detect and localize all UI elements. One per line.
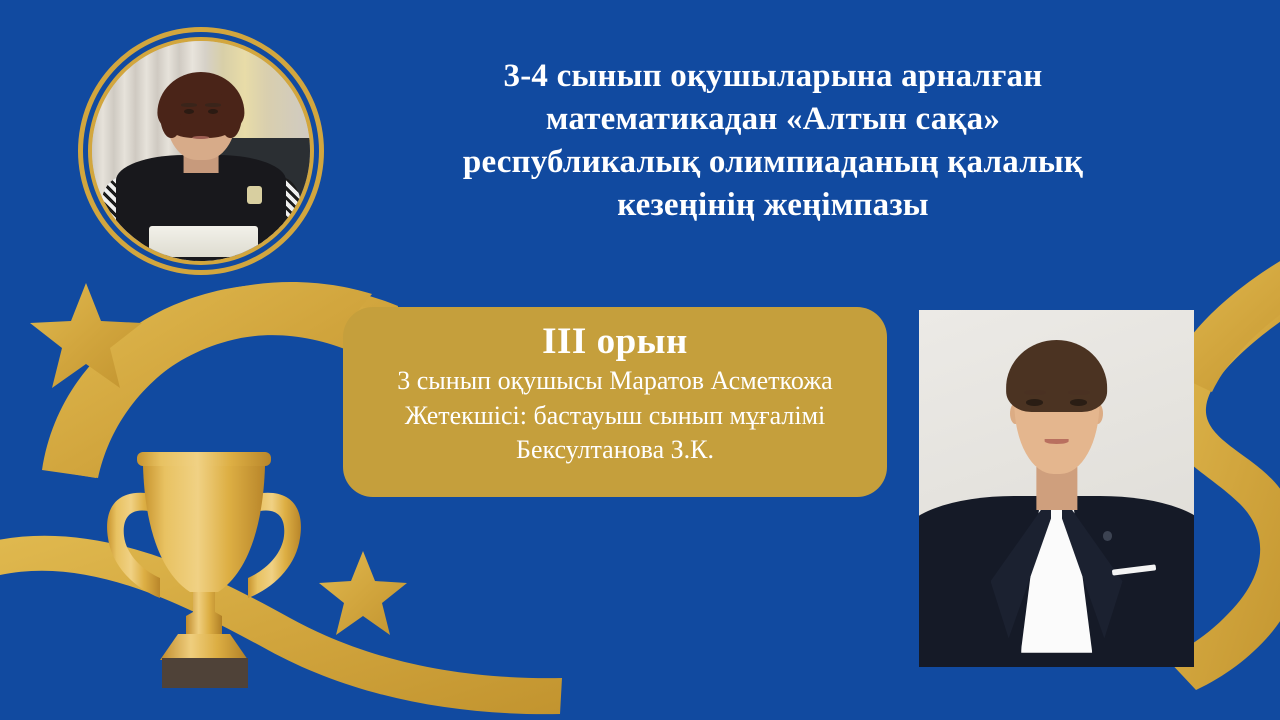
award-details: 3 сынып оқушысы Маратов Асметкожа Жетекш… [343, 364, 887, 467]
trophy-handle-right [248, 493, 301, 598]
award-place-label: III орын [343, 321, 887, 362]
trophy-foot [160, 634, 248, 660]
student-mouth [1044, 439, 1069, 445]
gold-ribbon-bottom-band [0, 536, 562, 714]
title-line-4: кезеңінің жеңімпазы [350, 184, 1196, 227]
trophy-icon [107, 452, 301, 688]
award-detail-line-2: Жетекшісі: бастауыш сынып мұғалімі [343, 399, 887, 433]
student-eye-right [1070, 399, 1087, 405]
trophy-rim [137, 452, 271, 466]
portrait-eyebrow-left [181, 103, 196, 106]
teacher-portrait-frame [78, 27, 324, 275]
portrait-hair-left [160, 89, 182, 137]
title-line-1: 3-4 сынып оқушыларына арналған [350, 55, 1196, 98]
student-eye-left [1026, 399, 1043, 405]
portrait-eyebrow-right [205, 103, 220, 106]
teacher-portrait-image [88, 37, 314, 265]
award-slide: 3-4 сынып оқушыларына арналған математик… [0, 0, 1280, 720]
portrait-papers [149, 226, 258, 257]
award-detail-line-3: Бексултанова З.К. [343, 433, 887, 467]
title-line-3: республикалық олимпиаданың қалалық [350, 141, 1196, 184]
trophy-bowl [143, 466, 265, 592]
student-lapel-pin [1103, 531, 1112, 540]
award-detail-line-1: 3 сынып оқушысы Маратов Асметкожа [343, 364, 887, 398]
title-line-2: математикадан «Алтын сақа» [350, 98, 1196, 141]
trophy-stem [186, 592, 222, 640]
star-icon [30, 283, 142, 388]
award-card: III орын 3 сынып оқушысы Маратов Асметко… [343, 307, 887, 497]
star-icon [319, 551, 407, 635]
portrait-brooch [247, 186, 262, 204]
trophy-handle-left [107, 493, 160, 598]
student-portrait-image [919, 310, 1194, 667]
portrait-mouth [192, 136, 209, 140]
trophy-base [162, 658, 248, 688]
student-eyebrow-right [1068, 390, 1090, 394]
student-eyebrow-left [1024, 390, 1046, 394]
gold-ribbon-sweep [48, 282, 378, 478]
page-title: 3-4 сынып оқушыларына арналған математик… [350, 55, 1196, 227]
